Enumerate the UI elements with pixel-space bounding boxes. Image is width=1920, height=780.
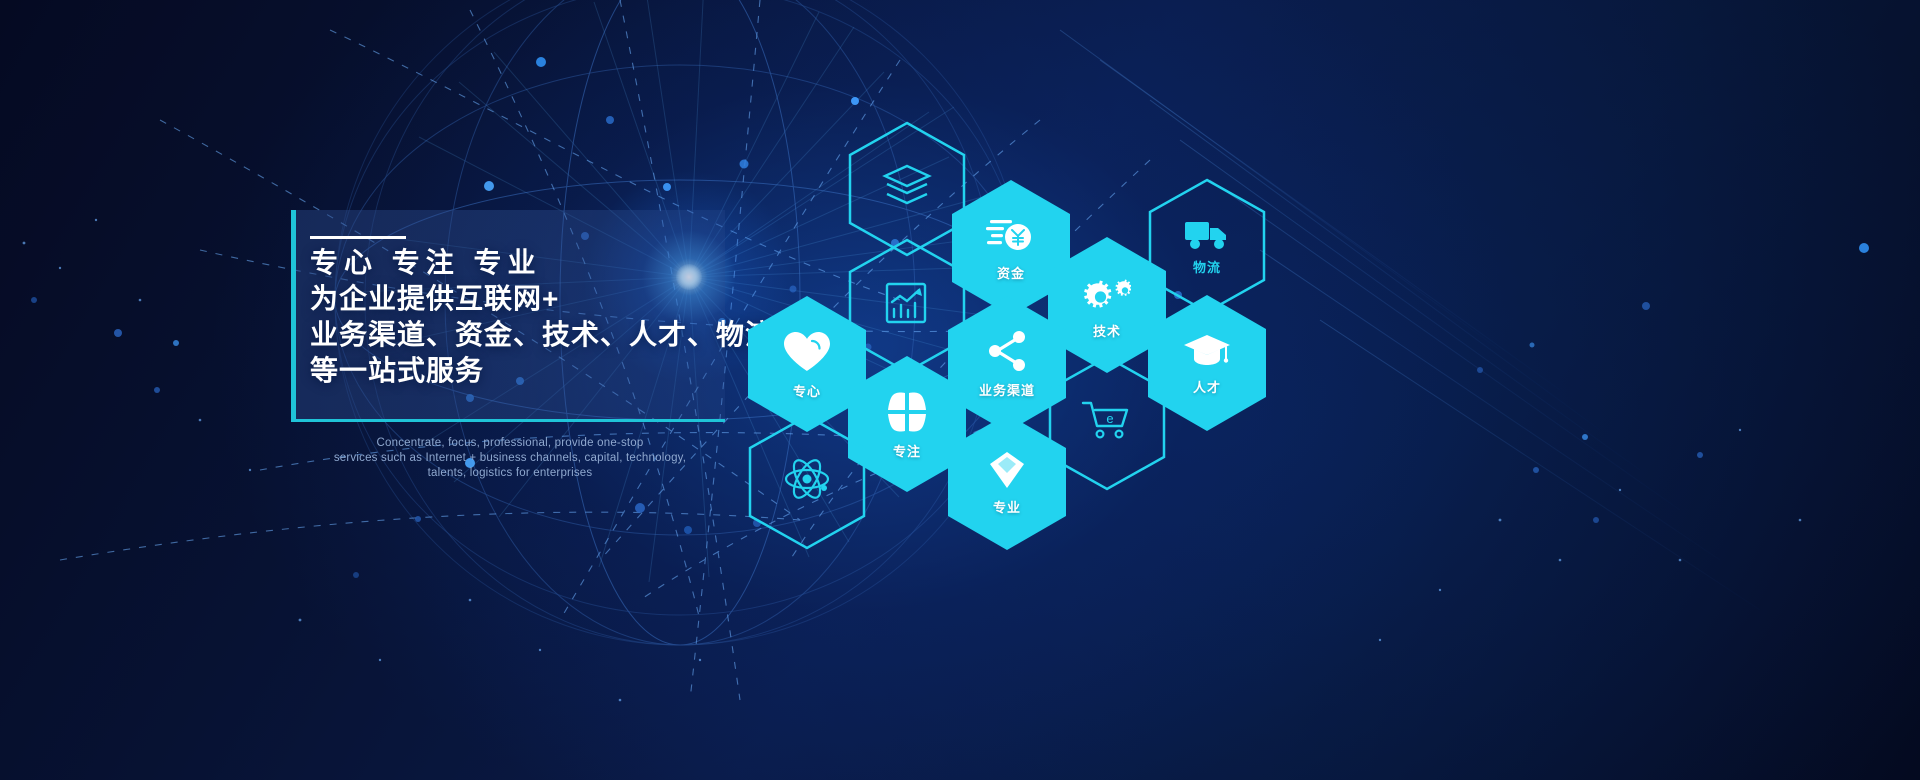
heart-icon xyxy=(781,329,833,375)
diamond-icon xyxy=(986,449,1028,491)
hex-chart[interactable] xyxy=(848,238,966,374)
gears-icon xyxy=(1083,271,1131,315)
hex-label: 资金 xyxy=(997,263,1025,282)
hex-label: 技术 xyxy=(1093,321,1121,340)
shopping-cart-icon: e xyxy=(1081,398,1133,442)
subtitle-line-2: services such as Internet + business cha… xyxy=(290,451,730,466)
subtitle: Concentrate, focus, professional, provid… xyxy=(290,436,730,481)
hex-atom[interactable] xyxy=(748,414,866,550)
bar-chart-icon xyxy=(884,280,930,326)
hex-label: 专注 xyxy=(893,441,921,460)
hex-cart[interactable]: e xyxy=(1048,355,1166,491)
share-nodes-icon xyxy=(984,330,1030,374)
hex-label: 业务渠道 xyxy=(979,380,1035,399)
subtitle-line-1: Concentrate, focus, professional, provid… xyxy=(290,436,730,451)
hex-label: 专心 xyxy=(793,381,821,400)
atom-icon xyxy=(782,456,832,502)
truck-icon xyxy=(1184,217,1230,251)
hex-label: 物流 xyxy=(1193,257,1221,276)
hex-layers[interactable] xyxy=(848,121,966,257)
yen-coin-icon xyxy=(986,215,1036,257)
graduation-cap-icon xyxy=(1182,331,1232,371)
clover-icon xyxy=(884,389,930,435)
layers-icon xyxy=(881,163,933,209)
hex-logistics[interactable]: 物流 xyxy=(1148,178,1266,314)
hex-label: 人才 xyxy=(1193,377,1221,396)
hex-label: 专业 xyxy=(993,497,1021,516)
svg-text:e: e xyxy=(1106,411,1113,426)
subtitle-line-3: talents, logistics for enterprises xyxy=(290,466,730,481)
hero-banner: 专心 专注 专业 为企业提供互联网+ 业务渠道、资金、技术、人才、物流 等一站式… xyxy=(0,0,1920,780)
headline-rule xyxy=(310,236,406,239)
